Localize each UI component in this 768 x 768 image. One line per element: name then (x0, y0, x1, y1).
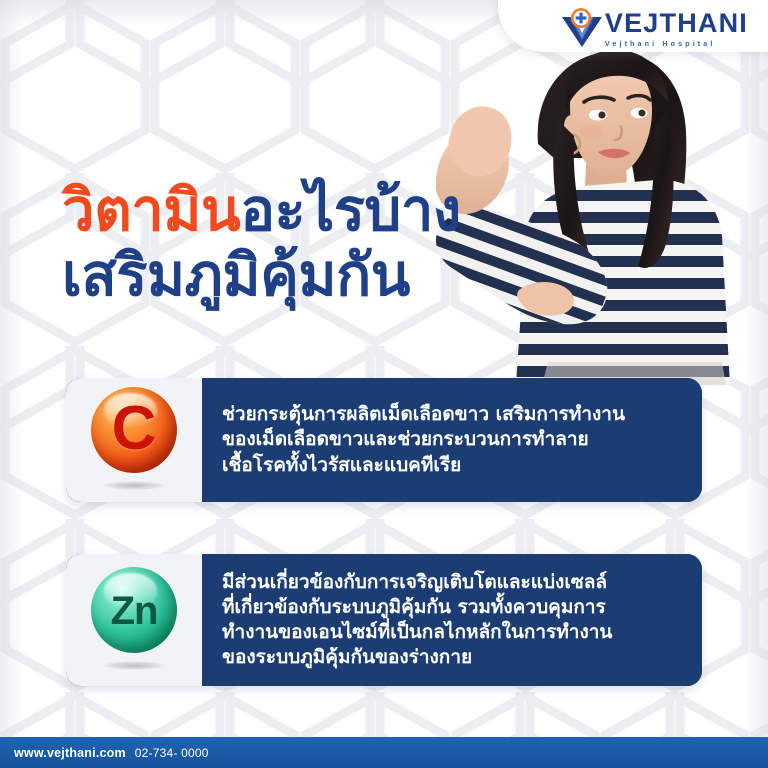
card-icon-pane: Zn (66, 554, 202, 686)
headline-line-2: เสริมภูมิคุ้มกัน (62, 243, 461, 308)
info-card-list: C ช่วยกระตุ้นการผลิตเม็ดเลือดขาว เสริมกา… (66, 378, 702, 686)
logo-name: VEJTHANI (605, 10, 748, 37)
card-body: ช่วยกระตุ้นการผลิตเม็ดเลือดขาว เสริมการท… (202, 378, 702, 502)
card-text-line: เชื้อโรคทั้งไวรัสและแบคทีเรีย (222, 453, 684, 478)
zinc-sphere-label: Zn (111, 591, 158, 631)
card-text-line: ที่เกี่ยวข้องกับระบบภูมิคุ้มกัน รวมทั้งค… (222, 595, 684, 620)
model-photo (430, 40, 768, 385)
vejthani-logo[interactable]: VEJTHANI Vejthani Hospital (559, 8, 748, 48)
vitamin-c-sphere-label: C (112, 398, 157, 460)
card-body: มีส่วนเกี่ยวข้องกับการเจริญเติบโตและแบ่ง… (202, 554, 702, 686)
zinc-sphere-icon: Zn (91, 567, 177, 653)
headline-rest: อะไรบ้าง (240, 176, 461, 244)
card-text-line: มีส่วนเกี่ยวข้องกับการเจริญเติบโตและแบ่ง… (222, 570, 684, 595)
footer-bar: www.vejthani.com 02-734- 0000 (0, 737, 768, 768)
infographic-poster: VEJTHANI Vejthani Hospital วิตามินอะไรบ้… (0, 0, 768, 768)
vejthani-v-cross-logo-icon (559, 8, 605, 48)
footer-website[interactable]: www.vejthani.com (14, 746, 126, 760)
headline: วิตามินอะไรบ้าง เสริมภูมิคุ้มกัน (62, 178, 461, 308)
headline-highlight: วิตามิน (62, 176, 240, 244)
footer-phone[interactable]: 02-734- 0000 (135, 746, 209, 760)
sphere-drop-shadow (103, 481, 165, 490)
card-text-line: ของระบบภูมิคุ้มกันของร่างกาย (222, 645, 684, 670)
headline-line-1: วิตามินอะไรบ้าง (62, 178, 461, 243)
card-text-line: ของเม็ดเลือดขาวและช่วยกระบวนการทำลาย (222, 427, 684, 452)
card-icon-pane: C (66, 378, 202, 502)
card-text-line: ช่วยกระตุ้นการผลิตเม็ดเลือดขาว เสริมการท… (222, 402, 684, 427)
logo-subtitle: Vejthani Hospital (605, 40, 716, 47)
sphere-drop-shadow (103, 661, 165, 670)
card-text-line: ทำงานของเอนไซม์ที่เป็นกลไกหลักในการทำงาน (222, 620, 684, 645)
info-card-zinc: Zn มีส่วนเกี่ยวข้องกับการเจริญเติบโตและแ… (66, 554, 702, 686)
vitamin-c-sphere-icon: C (91, 387, 177, 473)
info-card-vitamin-c: C ช่วยกระตุ้นการผลิตเม็ดเลือดขาว เสริมกา… (66, 378, 702, 502)
